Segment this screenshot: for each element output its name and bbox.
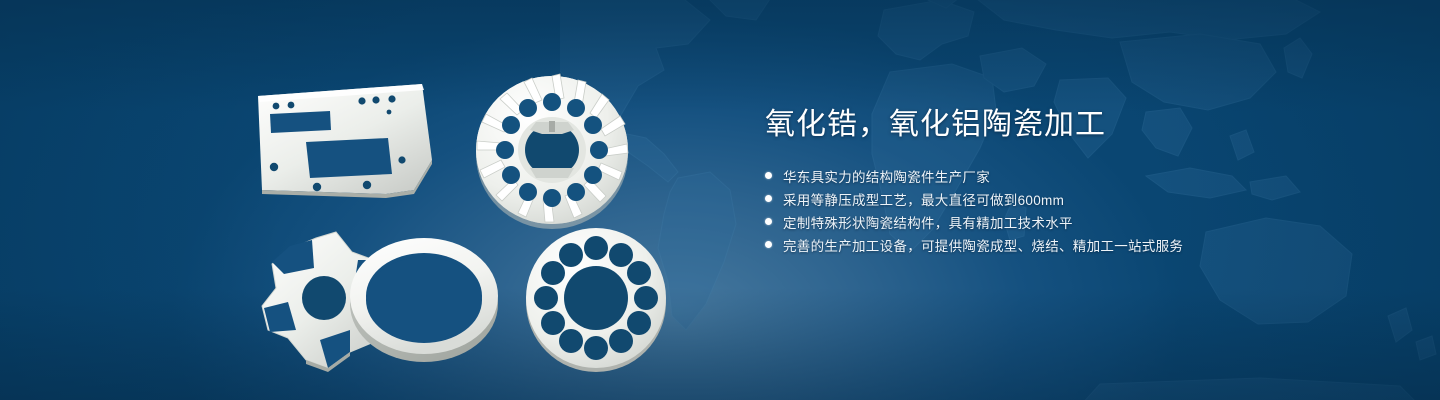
list-item: 定制特殊形状陶瓷结构件，具有精加工技术水平 <box>765 210 1365 233</box>
list-item-label: 采用等静压成型工艺，最大直径可做到600mm <box>783 189 1064 209</box>
bullet-dot-icon <box>765 172 772 179</box>
bullet-dot-icon <box>765 218 772 225</box>
ceramic-products-image <box>236 44 716 384</box>
ceramic-perforated-disc <box>526 228 666 372</box>
ceramic-vaned-impeller <box>476 74 628 229</box>
list-item: 华东具实力的结构陶瓷件生产厂家 <box>765 164 1365 187</box>
list-item-label: 定制特殊形状陶瓷结构件，具有精加工技术水平 <box>783 212 1073 232</box>
ceramic-ring <box>350 238 498 362</box>
list-item: 完善的生产加工设备，可提供陶瓷成型、烧结、精加工一站式服务 <box>765 233 1365 256</box>
bullet-dot-icon <box>765 195 772 202</box>
list-item-label: 华东具实力的结构陶瓷件生产厂家 <box>783 166 990 186</box>
list-item-label: 完善的生产加工设备，可提供陶瓷成型、烧结、精加工一站式服务 <box>783 235 1183 255</box>
hero-banner: 氧化锆，氧化铝陶瓷加工 华东具实力的结构陶瓷件生产厂家 采用等静压成型工艺，最大… <box>0 0 1440 400</box>
list-item: 采用等静压成型工艺，最大直径可做到600mm <box>765 187 1365 210</box>
page-title: 氧化锆，氧化铝陶瓷加工 <box>765 104 1365 146</box>
feature-list: 华东具实力的结构陶瓷件生产厂家 采用等静压成型工艺，最大直径可做到600mm 定… <box>765 164 1365 256</box>
banner-copy: 氧化锆，氧化铝陶瓷加工 华东具实力的结构陶瓷件生产厂家 采用等静压成型工艺，最大… <box>765 104 1365 256</box>
bullet-dot-icon <box>765 241 772 248</box>
ceramic-machined-plate <box>258 84 432 198</box>
